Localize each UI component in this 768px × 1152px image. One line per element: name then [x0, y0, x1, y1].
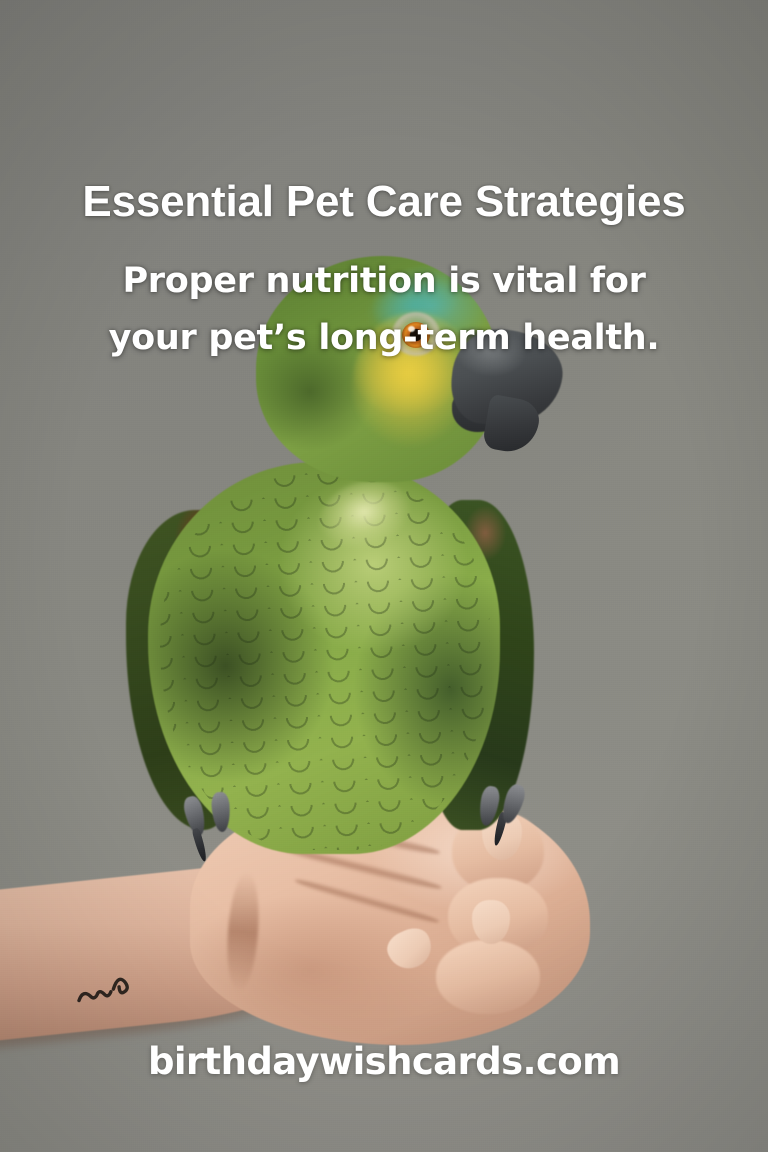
parrot-illustration — [0, 0, 768, 1152]
subheadline: Proper nutrition is vital for your pet’s… — [0, 253, 768, 367]
subheadline-line-1: Proper nutrition is vital for — [0, 253, 768, 310]
pinterest-pin-card: Essential Pet Care Strategies Proper nut… — [0, 0, 768, 1152]
footer-website-url[interactable]: birthdaywishcards.com — [0, 1040, 768, 1083]
headline-title: Essential Pet Care Strategies — [0, 179, 768, 225]
subheadline-line-2: your pet’s long-term health. — [0, 310, 768, 367]
